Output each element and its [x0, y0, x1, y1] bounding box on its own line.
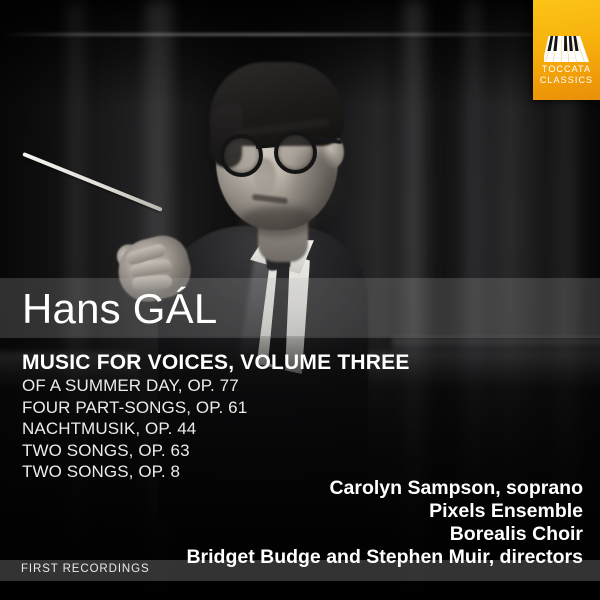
album-cover: Hans GÁL MUSIC FOR VOICES, VOLUME THREE … — [0, 0, 600, 600]
works-list: MUSIC FOR VOICES, VOLUME THREE OF A SUMM… — [22, 350, 410, 483]
toccata-classics-logo[interactable]: TOCCATA CLASSICS — [533, 0, 600, 100]
cover-text-layer: Hans GÁL MUSIC FOR VOICES, VOLUME THREE … — [0, 0, 600, 600]
credit-line: Carolyn Sampson, soprano — [186, 477, 583, 500]
work-item: OF A SUMMER DAY, OP. 77 — [22, 375, 410, 397]
composer-family-name: GÁL — [133, 285, 218, 332]
work-item: NACHTMUSIK, OP. 44 — [22, 418, 410, 440]
credit-line: Borealis Choir — [186, 523, 583, 546]
label-wordmark: TOCCATA CLASSICS — [533, 64, 600, 86]
credit-line: Bridget Budge and Stephen Muir, director… — [186, 546, 583, 569]
work-item: TWO SONGS, OP. 63 — [22, 440, 410, 462]
composer-given-name: Hans — [22, 285, 121, 332]
performer-credits: Carolyn Sampson, soprano Pixels Ensemble… — [186, 477, 583, 569]
album-title: MUSIC FOR VOICES, VOLUME THREE — [22, 350, 410, 375]
label-name-line1: TOCCATA — [533, 64, 600, 75]
label-name-line2: CLASSICS — [533, 75, 600, 86]
first-recordings-label: FIRST RECORDINGS — [21, 563, 150, 575]
credit-line: Pixels Ensemble — [186, 500, 583, 523]
work-item: FOUR PART-SONGS, OP. 61 — [22, 397, 410, 419]
composer-name: Hans GÁL — [22, 286, 217, 332]
piano-keyboard-icon — [544, 36, 589, 62]
